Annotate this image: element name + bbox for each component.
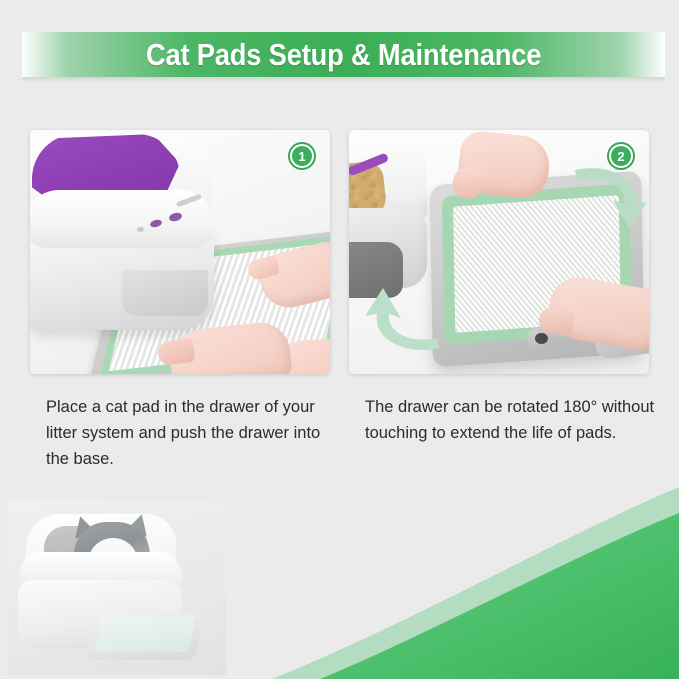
banner-shadow	[22, 77, 665, 82]
step-2-badge-number: 2	[611, 146, 631, 166]
hand-lower-left-fingers	[157, 338, 196, 367]
rotate-arrow-counterclockwise-icon	[357, 276, 443, 358]
step-1-photo	[30, 130, 330, 374]
litter-box-detail-dot	[137, 227, 144, 232]
step-2-photo-panel: 2	[349, 130, 649, 374]
step-2-photo	[349, 130, 649, 374]
step-1-badge-number: 1	[292, 146, 312, 166]
pad-in-drawer	[94, 616, 196, 652]
hand-top-fingers	[452, 167, 483, 200]
page-title: Cat Pads Setup & Maintenance	[146, 37, 541, 73]
cat-in-litter-box-photo	[8, 500, 226, 675]
rotate-arrow-clockwise-icon	[571, 160, 649, 238]
step-1-badge: 1	[288, 142, 316, 170]
litter-box-drawer-opening	[122, 270, 208, 316]
drawer-knob-dot	[535, 333, 548, 344]
step-2-caption: The drawer can be rotated 180° without t…	[365, 394, 655, 446]
step-1-caption: Place a cat pad in the drawer of your li…	[46, 394, 336, 472]
page-title-banner: Cat Pads Setup & Maintenance	[22, 32, 665, 77]
step-1-photo-panel: 1	[30, 130, 330, 374]
step-2-badge: 2	[607, 142, 635, 170]
